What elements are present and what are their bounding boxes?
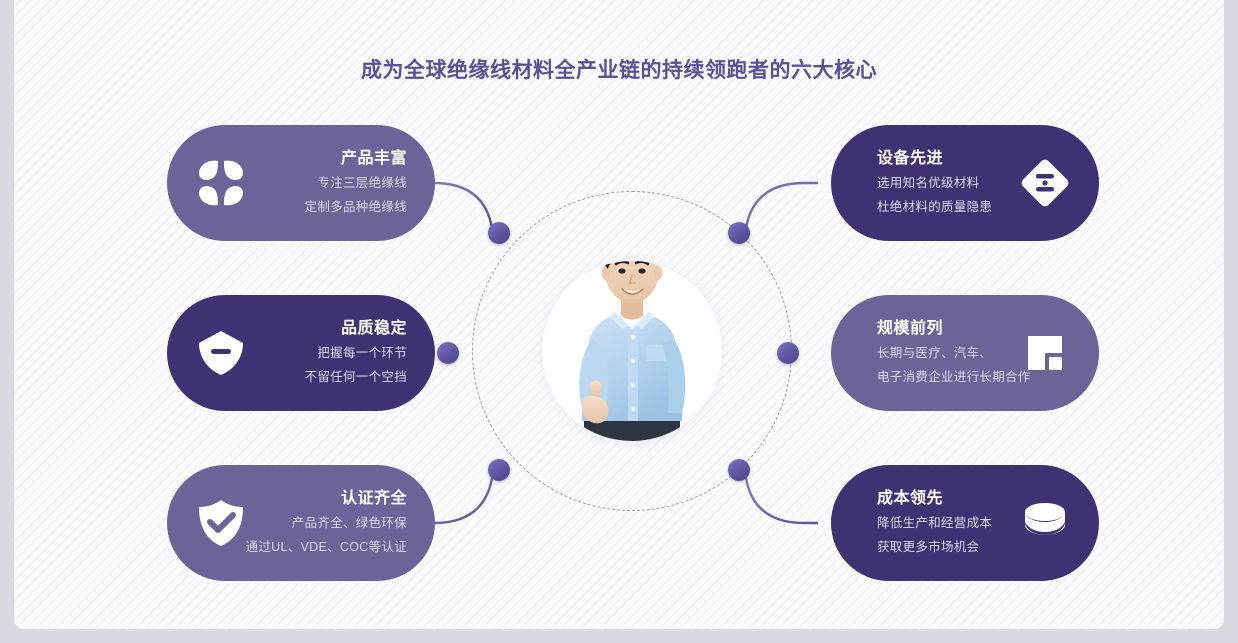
gem-minus-icon [193,325,249,381]
card-line-1: 把握每一个环节 [317,342,407,361]
card-title: 规模前列 [877,314,943,338]
check-shield-icon [193,495,249,551]
node-left-1 [488,222,510,244]
card-line-1: 产品齐全、绿色环保 [292,512,407,531]
content-panel: 成为全球绝缘线材料全产业链的持续领跑者的六大核心 [14,0,1224,629]
card-certification-complete[interactable]: 认证齐全 产品齐全、绿色环保 通过UL、VDE、COC等认证 [167,465,435,581]
node-left-2 [437,342,459,364]
card-title: 产品丰富 [341,144,407,168]
card-scale-leading[interactable]: 规模前列 长期与医疗、汽车、 电子消费企业进行长期合作 [831,295,1099,411]
four-petal-icon [193,155,249,211]
card-line-2: 不留任何一个空挡 [305,366,407,385]
card-line-2: 杜绝材料的质量隐患 [877,196,992,215]
card-title: 成本领先 [877,484,943,508]
node-left-3 [488,459,510,481]
link-right-1 [746,183,817,228]
card-line-2: 获取更多市场机会 [877,536,979,555]
infographic-stage: 成为全球绝缘线材料全产业链的持续领跑者的六大核心 [0,0,1238,643]
card-line-1: 选用知名优级材料 [877,172,979,191]
card-cost-leading[interactable]: 成本领先 降低生产和经营成本 获取更多市场机会 [831,465,1099,581]
card-title: 品质稳定 [341,314,407,338]
link-right-3 [746,478,817,523]
card-quality-stable[interactable]: 品质稳定 把握每一个环节 不留任何一个空挡 [167,295,435,411]
card-title: 设备先进 [877,144,943,168]
card-line-2: 定制多品种绝缘线 [305,196,407,215]
portrait-illustration [528,209,736,457]
card-line-1: 降低生产和经营成本 [877,512,992,531]
page-title: 成为全球绝缘线材料全产业链的持续领跑者的六大核心 [14,54,1224,84]
node-right-2 [777,342,799,364]
card-line-1: 长期与医疗、汽车、 [877,342,992,361]
diamond-bars-icon [1017,155,1073,211]
node-right-3 [728,459,750,481]
card-product-rich[interactable]: 产品丰富 专注三层绝缘线 定制多品种绝缘线 [167,125,435,241]
card-line-2: 通过UL、VDE、COC等认证 [246,536,407,555]
card-equipment-advanced[interactable]: 设备先进 选用知名优级材料 杜绝材料的质量隐患 [831,125,1099,241]
center-portrait [542,261,722,441]
card-line-2: 电子消费企业进行长期合作 [877,366,1031,385]
card-title: 认证齐全 [341,484,407,508]
card-line-1: 专注三层绝缘线 [317,172,407,191]
database-stack-icon [1017,495,1073,551]
